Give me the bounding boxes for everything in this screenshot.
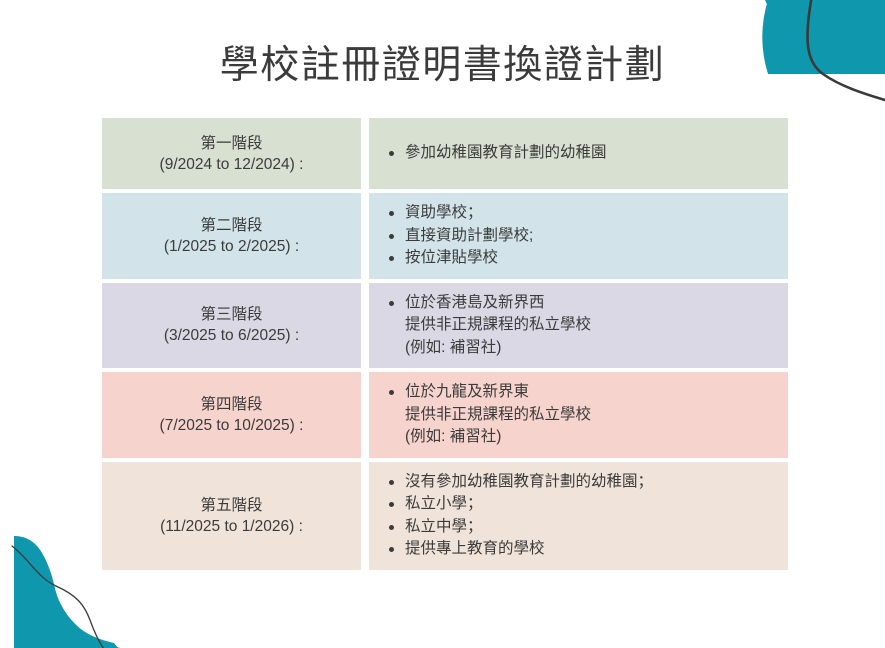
column-divider <box>361 372 369 458</box>
list-item-text: 參加幼稚園教育計劃的幼稚園 <box>405 144 607 161</box>
bottom-left-curve-line <box>12 546 106 648</box>
table-row: 第三階段(3/2025 to 6/2025) :位於香港島及新界西提供非正規課程… <box>102 283 788 369</box>
table-row: 第一階段(9/2024 to 12/2024) :參加幼稚園教育計劃的幼稚園 <box>102 118 788 189</box>
list-item: 參加幼稚園教育計劃的幼稚園 <box>383 142 776 165</box>
list-item-text: 位於九龍及新界東 <box>405 383 529 400</box>
phase-name: 第一階段 <box>200 133 262 154</box>
list-item-subline: 提供非正規課程的私立學校 <box>405 314 776 337</box>
column-divider <box>361 118 369 189</box>
school-type-list: 位於九龍及新界東提供非正規課程的私立學校(例如: 補習社) <box>383 381 776 449</box>
phase-date-range: (11/2025 to 1/2026) : <box>160 516 303 537</box>
list-item: 私立中學； <box>383 516 776 539</box>
column-divider <box>361 193 369 279</box>
phase-label-cell: 第五階段(11/2025 to 1/2026) : <box>102 462 361 570</box>
phase-name: 第三階段 <box>200 304 262 325</box>
list-item-subline: (例如: 補習社) <box>405 426 776 449</box>
list-item-subline: 提供非正規課程的私立學校 <box>405 404 776 427</box>
phase-name: 第五階段 <box>200 495 262 516</box>
list-item: 資助學校； <box>383 202 776 225</box>
phase-schedule-table: 第一階段(9/2024 to 12/2024) :參加幼稚園教育計劃的幼稚園第二… <box>102 118 788 574</box>
phase-detail-cell: 參加幼稚園教育計劃的幼稚園 <box>369 118 788 189</box>
list-item-text: 按位津貼學校 <box>405 249 498 266</box>
list-item-text: 位於香港島及新界西 <box>405 294 545 311</box>
phase-name: 第四階段 <box>200 394 262 415</box>
list-item-text: 提供專上教育的學校 <box>405 540 545 557</box>
school-type-list: 沒有參加幼稚園教育計劃的幼稚園；私立小學；私立中學；提供專上教育的學校 <box>383 471 776 561</box>
list-item: 位於香港島及新界西提供非正規課程的私立學校(例如: 補習社) <box>383 292 776 360</box>
table-row: 第五階段(11/2025 to 1/2026) :沒有參加幼稚園教育計劃的幼稚園… <box>102 462 788 570</box>
column-divider <box>361 462 369 570</box>
list-item: 位於九龍及新界東提供非正規課程的私立學校(例如: 補習社) <box>383 381 776 449</box>
phase-date-range: (1/2025 to 2/2025) : <box>164 236 299 257</box>
phase-date-range: (7/2025 to 10/2025) : <box>160 415 304 436</box>
list-item: 私立小學； <box>383 493 776 516</box>
list-item-text: 沒有參加幼稚園教育計劃的幼稚園； <box>405 473 653 490</box>
school-type-list: 位於香港島及新界西提供非正規課程的私立學校(例如: 補習社) <box>383 292 776 360</box>
list-item: 沒有參加幼稚園教育計劃的幼稚園； <box>383 471 776 494</box>
school-type-list: 資助學校；直接資助計劃學校;按位津貼學校 <box>383 202 776 270</box>
phase-detail-cell: 資助學校；直接資助計劃學校;按位津貼學校 <box>369 193 788 279</box>
list-item-text: 資助學校； <box>405 204 483 221</box>
list-item-text: 私立小學； <box>405 495 483 512</box>
list-item-subline: (例如: 補習社) <box>405 337 776 360</box>
phase-detail-cell: 沒有參加幼稚園教育計劃的幼稚園；私立小學；私立中學；提供專上教育的學校 <box>369 462 788 570</box>
page-title: 學校註冊證明書換證計劃 <box>0 40 885 92</box>
list-item: 提供專上教育的學校 <box>383 538 776 561</box>
table-row: 第四階段(7/2025 to 10/2025) :位於九龍及新界東提供非正規課程… <box>102 372 788 458</box>
school-type-list: 參加幼稚園教育計劃的幼稚園 <box>383 142 776 165</box>
phase-name: 第二階段 <box>200 215 262 236</box>
list-item-text: 直接資助計劃學校; <box>405 227 533 244</box>
list-item-text: 私立中學； <box>405 518 483 535</box>
slide-canvas: 學校註冊證明書換證計劃 第一階段(9/2024 to 12/2024) :參加幼… <box>0 0 885 648</box>
list-item: 直接資助計劃學校; <box>383 225 776 248</box>
phase-detail-cell: 位於香港島及新界西提供非正規課程的私立學校(例如: 補習社) <box>369 283 788 369</box>
phase-label-cell: 第三階段(3/2025 to 6/2025) : <box>102 283 361 369</box>
list-item: 按位津貼學校 <box>383 247 776 270</box>
column-divider <box>361 283 369 369</box>
phase-detail-cell: 位於九龍及新界東提供非正規課程的私立學校(例如: 補習社) <box>369 372 788 458</box>
phase-date-range: (9/2024 to 12/2024) : <box>160 154 304 175</box>
phase-date-range: (3/2025 to 6/2025) : <box>164 325 299 346</box>
phase-label-cell: 第四階段(7/2025 to 10/2025) : <box>102 372 361 458</box>
table-row: 第二階段(1/2025 to 2/2025) :資助學校；直接資助計劃學校;按位… <box>102 193 788 279</box>
phase-label-cell: 第一階段(9/2024 to 12/2024) : <box>102 118 361 189</box>
phase-label-cell: 第二階段(1/2025 to 2/2025) : <box>102 193 361 279</box>
